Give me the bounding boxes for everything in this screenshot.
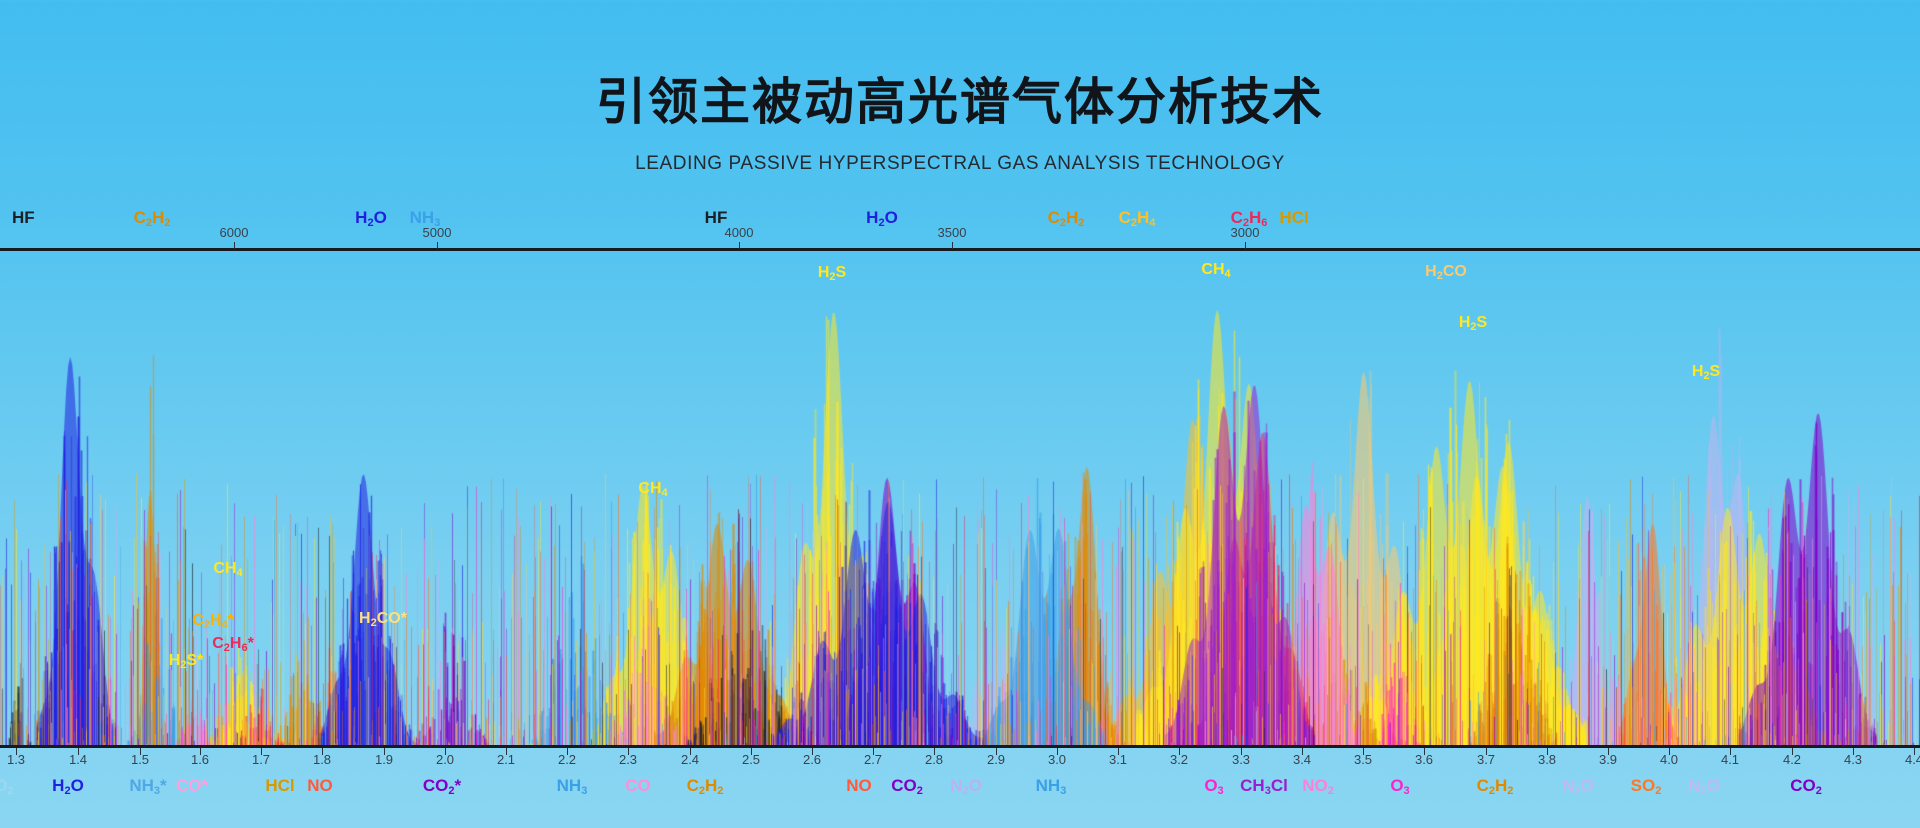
gas-label-co2: CO2 — [1790, 776, 1822, 797]
gas-label-h2o: H2O — [866, 208, 898, 229]
spectrum-plot-area — [0, 248, 1920, 748]
gas-label-o3: O3 — [1390, 776, 1409, 797]
gas-label-ch3cl: CH3Cl — [1240, 776, 1288, 797]
gas-label-nh3: NH3 — [557, 776, 588, 797]
gas-label-nh3: NH3 — [410, 208, 441, 229]
gas-label-hf: HF — [12, 208, 35, 228]
gas-label-so2: SO2 — [1631, 776, 1662, 797]
gas-label-nh3star: NH3* — [129, 776, 166, 797]
gas-label-h2o: H2O — [52, 776, 84, 797]
gas-label-o2: O2 — [0, 776, 14, 797]
gas-label-n2o: N2O — [1562, 776, 1594, 797]
gas-label-h2o: H2O — [355, 208, 387, 229]
gas-label-hcl: HCl — [1279, 208, 1308, 228]
bottom-gas-labels: O2H2ONH3*CO*HClNOCO2*NH3COC2H2NOCO2N2ONH… — [0, 748, 1920, 828]
gas-label-o3: O3 — [1204, 776, 1223, 797]
gas-label-co2: CO2 — [891, 776, 923, 797]
top-gas-labels: HFC2H2H2ONH3HFH2OC2H2C2H4C2H6HCl — [0, 0, 1920, 252]
gas-label-costar: CO* — [176, 776, 208, 796]
gas-label-c2h6: C2H6 — [1231, 208, 1268, 229]
gas-label-no2: NO2 — [1302, 776, 1334, 797]
gas-label-co2star: CO2* — [423, 776, 461, 797]
gas-label-co: CO — [625, 776, 651, 796]
spectrum-chart: CH4C2H4*C2H6*H2S*H2CO*CH4H2SCH4H2COH2SH2… — [0, 248, 1920, 748]
spectrum-canvas — [0, 248, 1920, 748]
gas-label-c2h2: C2H2 — [1048, 208, 1085, 229]
gas-label-c2h2: C2H2 — [687, 776, 724, 797]
gas-label-nh3: NH3 — [1036, 776, 1067, 797]
gas-label-n2o: N2O — [950, 776, 982, 797]
gas-label-c2h4: C2H4 — [1119, 208, 1156, 229]
gas-label-c2h2: C2H2 — [134, 208, 171, 229]
gas-label-n2o: N2O — [1688, 776, 1720, 797]
gas-label-hcl: HCl — [265, 776, 294, 796]
gas-label-c2h2: C2H2 — [1477, 776, 1514, 797]
gas-label-no: NO — [307, 776, 333, 796]
bottom-gas-label-band: O2H2ONH3*CO*HClNOCO2*NH3COC2H2NOCO2N2ONH… — [0, 748, 1920, 828]
gas-label-hf: HF — [705, 208, 728, 228]
gas-label-no: NO — [846, 776, 872, 796]
